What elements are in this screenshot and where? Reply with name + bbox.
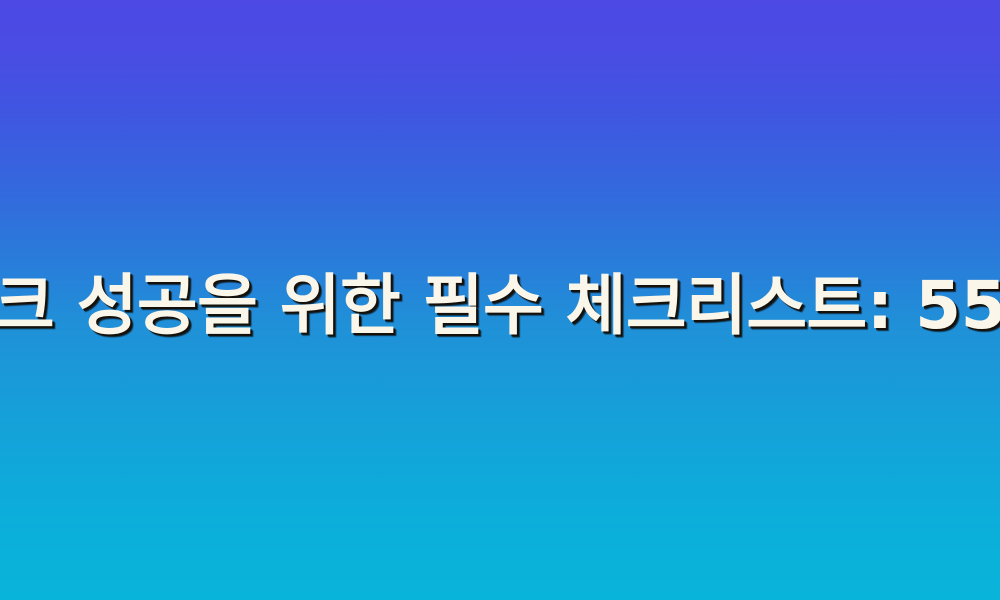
headline-container: 체크 성공을 위한 필수 체크리스트: 55가 [0,0,1000,600]
gradient-banner: 체크 성공을 위한 필수 체크리스트: 55가 [0,0,1000,600]
banner-headline: 체크 성공을 위한 필수 체크리스트: 55가 [0,271,1000,340]
